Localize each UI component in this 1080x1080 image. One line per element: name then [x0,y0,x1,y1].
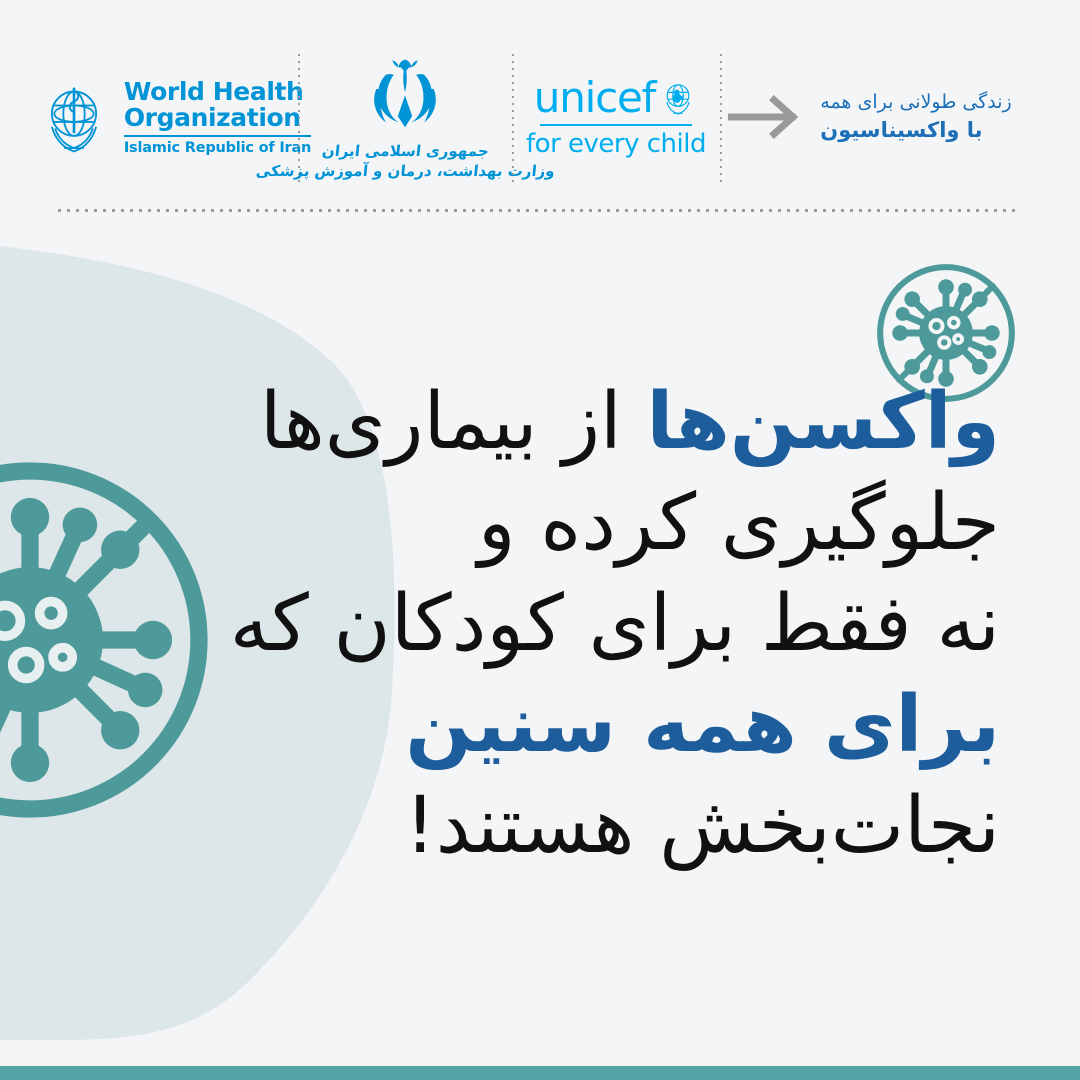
who-emblem-icon [33,76,115,158]
moh-logo-block: جمهوری اسلامی ایران وزارت بهداشت، درمان … [298,42,512,192]
unicef-tagline: for every child [526,130,706,158]
headline-text-1b: از بیماری‌ها [260,377,647,467]
unicef-divider-rule [540,124,692,126]
poster-canvas: World Health Organization Islamic Republ… [0,0,1080,1080]
headline-line-2: جلوگیری کرده و [70,473,1000,574]
campaign-slogan-block: زندگی طولانی برای همه با واکسیناسیون [720,42,1020,192]
slogan-line1: زندگی طولانی برای همه [820,89,1011,116]
arrow-right-icon [728,95,802,139]
headline-line-4: برای همه سنین [70,675,1000,776]
unicef-logo-block: unicef [512,42,720,192]
headline-block: واکسن‌ها از بیماری‌ها جلوگیری کرده و نه … [70,372,1000,877]
iran-emblem-icon [357,54,453,140]
moh-caption-line1: جمهوری اسلامی ایران [321,142,490,161]
teal-footer-bar [0,1066,1080,1080]
moh-caption-line2: وزارت بهداشت، درمان و آموزش پزشکی [255,161,556,181]
slogan-line2: با واکسیناسیون [820,116,982,145]
header-logo-bar: World Health Organization Islamic Republ… [0,0,1080,215]
headline-line-3: نه فقط برای کودکان که [70,574,1000,675]
dotted-horizontal-divider [58,209,1020,212]
unicef-emblem-icon [658,78,698,118]
logo-row: World Health Organization Islamic Republ… [46,42,1036,192]
headline-emphasis-vaccines: واکسن‌ها [646,377,1000,467]
headline-line-5: نجات‌بخش هستند! [70,776,1000,877]
headline-line-1: واکسن‌ها از بیماری‌ها [70,372,1000,473]
unicef-wordmark: unicef [534,77,655,119]
